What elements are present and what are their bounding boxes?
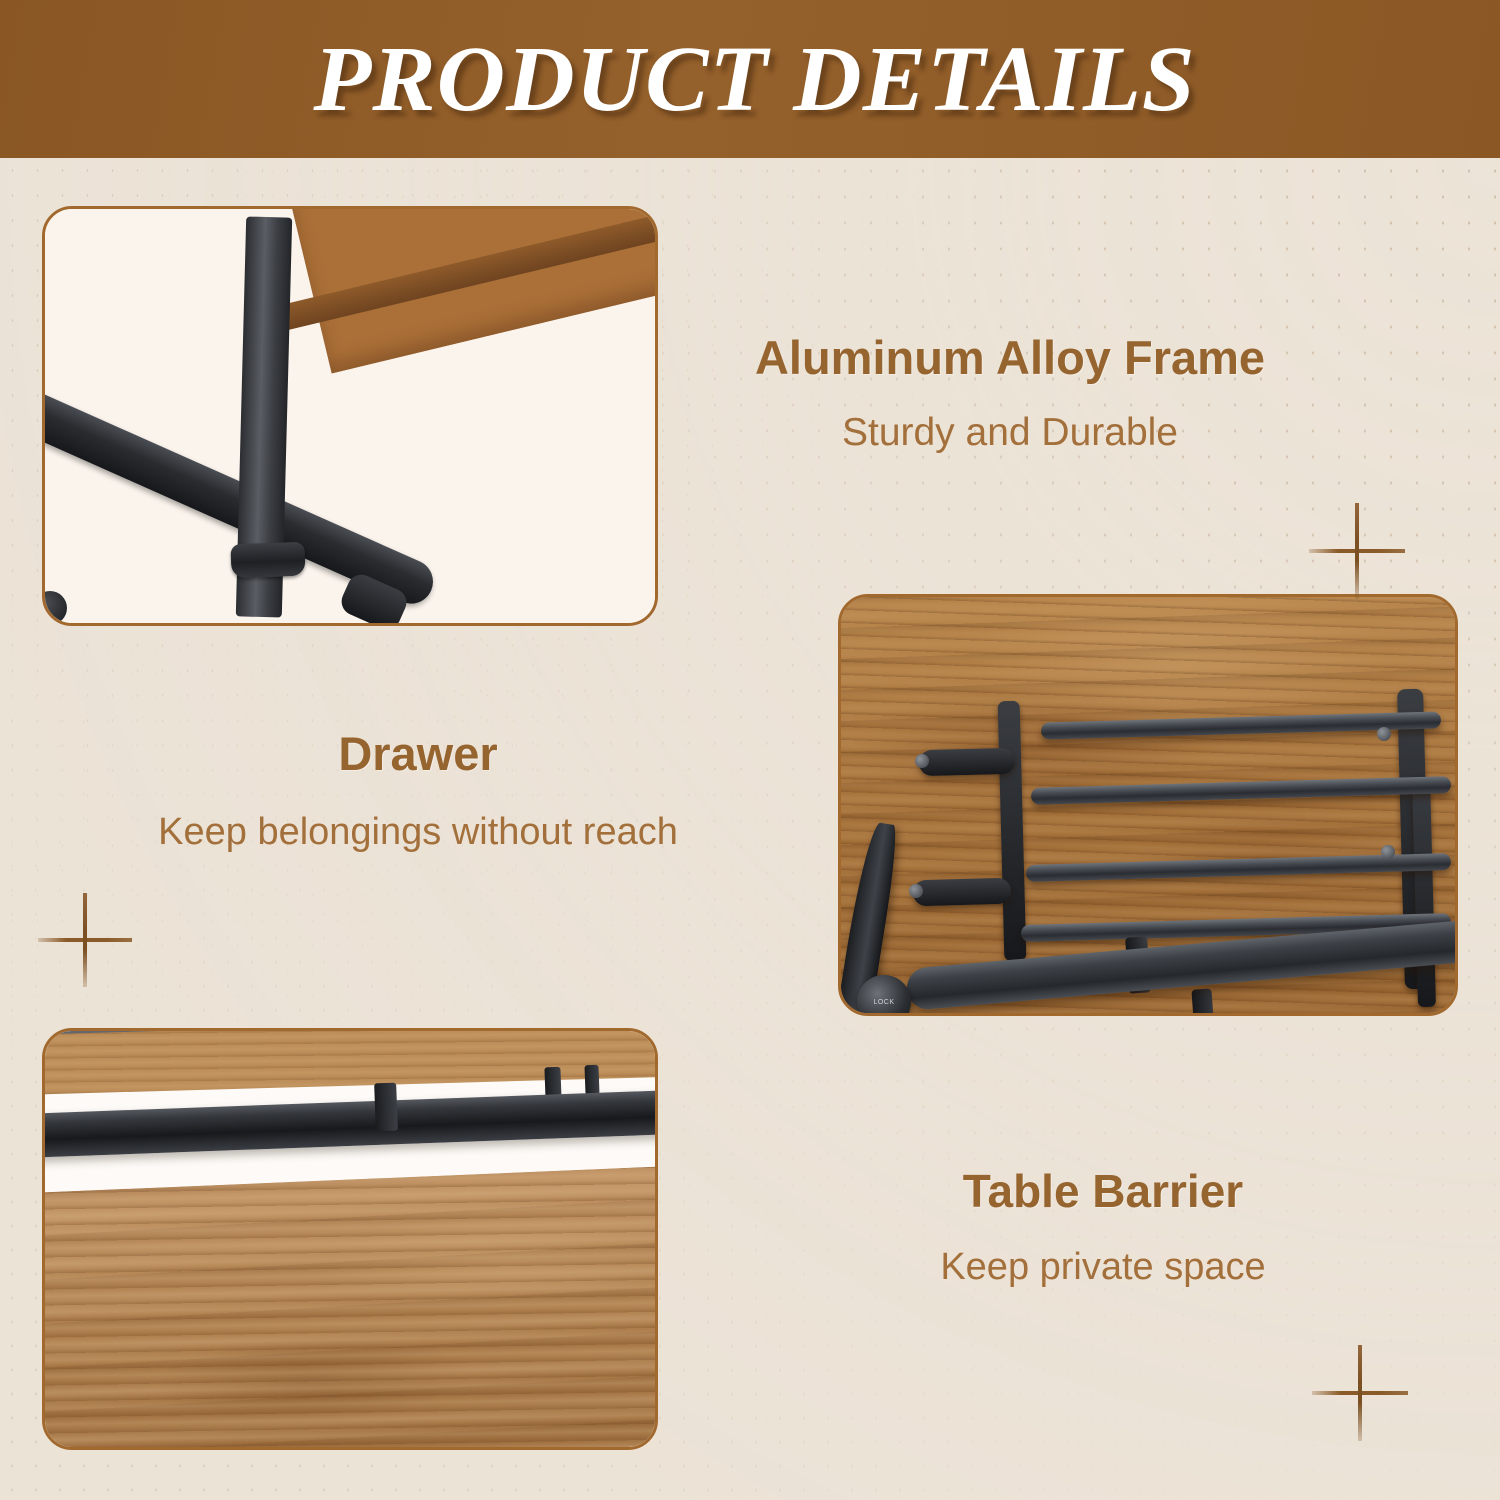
product-details-page: PRODUCT DETAILS xyxy=(0,0,1500,1500)
cross-mark-icon xyxy=(38,893,132,987)
feature-heading: Table Barrier xyxy=(798,1166,1408,1217)
cross-vertical-bar xyxy=(1355,503,1359,599)
feature-text-drawer: Drawer Keep belongings without reach xyxy=(58,728,778,855)
leg-joint-collar xyxy=(230,542,305,579)
feature-subtext: Sturdy and Durable xyxy=(700,410,1320,457)
panel-drawer-rails: LOCK xyxy=(838,594,1458,1016)
rail-bracket-arm-top xyxy=(919,748,1016,777)
rail-pin-4 xyxy=(1381,845,1395,859)
feature-subtext: Keep belongings without reach xyxy=(58,810,778,856)
panel-table-barrier xyxy=(42,1028,658,1450)
cross-mark-icon xyxy=(1312,1345,1408,1441)
rail-bracket-arm-bottom xyxy=(913,878,1012,907)
rail-pin-2 xyxy=(909,884,923,898)
desktop-wood-surface xyxy=(45,1164,655,1447)
cross-mark-icon xyxy=(1309,503,1405,599)
rail-clip-2 xyxy=(1191,988,1214,1013)
feature-text-table-barrier: Table Barrier Keep private space xyxy=(798,1166,1408,1290)
rail-pin-3 xyxy=(1377,727,1391,741)
feature-heading: Drawer xyxy=(58,728,778,780)
table-barrier-photo xyxy=(45,1031,655,1447)
barrier-clip-3 xyxy=(584,1065,599,1095)
frame-detail-photo xyxy=(45,209,655,623)
cross-vertical-bar xyxy=(1358,1345,1362,1441)
feature-subtext: Keep private space xyxy=(798,1245,1408,1291)
panel-frame-detail xyxy=(42,206,658,626)
page-title: PRODUCT DETAILS xyxy=(314,33,1196,126)
rail-pin-1 xyxy=(915,754,929,768)
feature-text-aluminum-alloy-frame: Aluminum Alloy Frame Sturdy and Durable xyxy=(700,332,1320,456)
feature-heading: Aluminum Alloy Frame xyxy=(700,332,1320,384)
lock-knob-label: LOCK xyxy=(873,999,894,1006)
cross-vertical-bar xyxy=(83,893,87,987)
drawer-rails-photo: LOCK xyxy=(841,597,1455,1013)
barrier-clip-1 xyxy=(374,1083,398,1132)
header-banner: PRODUCT DETAILS xyxy=(0,0,1500,158)
